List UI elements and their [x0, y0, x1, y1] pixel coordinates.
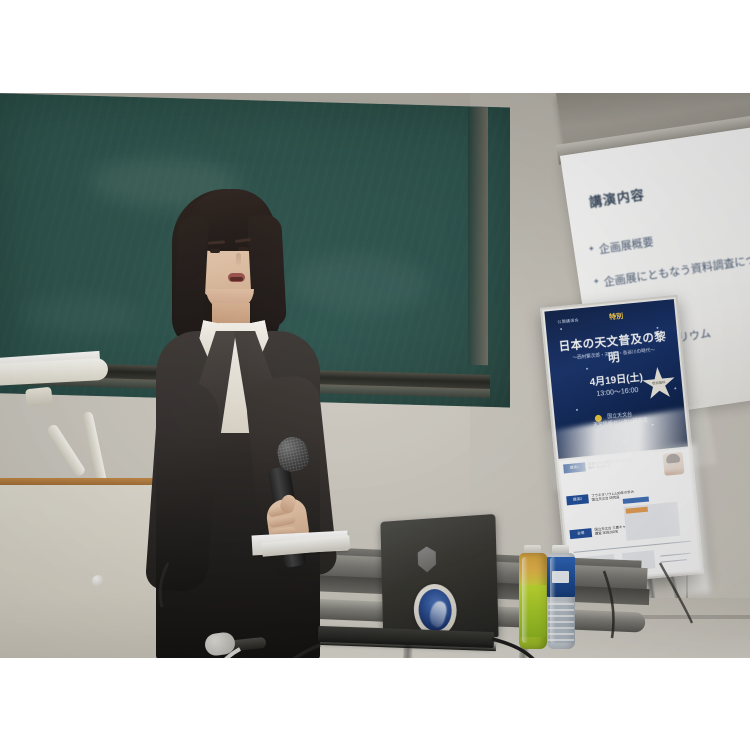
presenter-mouth [228, 273, 245, 282]
document-camera-arm-lower [46, 423, 87, 478]
poster-star [576, 409, 578, 411]
presenter-hair-right [247, 214, 287, 328]
lectern-knob[interactable] [92, 575, 104, 587]
screenshot-root: 講演内容 ✦ 企画展概要 ✦ 企画展にともなう資料調査につ 作所の100年 所と… [0, 0, 750, 750]
poster-star [674, 387, 676, 389]
bullet-marker-icon: ✦ [592, 275, 601, 290]
laptop-sticker [413, 584, 457, 637]
laptop-sticker-swirl [427, 599, 449, 629]
bottle-highlight [550, 557, 556, 643]
laptop-brand-logo-icon [414, 546, 440, 573]
presenter-eye-left [210, 249, 220, 253]
presenter-eye-right [238, 247, 248, 251]
lecture-photograph: 講演内容 ✦ 企画展概要 ✦ 企画展にともなう資料調査につ 作所の100年 所と… [0, 93, 750, 658]
poster-pretitle: 公開講演会 [557, 317, 579, 325]
event-poster: 公開講演会 特別 日本の天文普及の黎明 ～西村繁次郎・天文台・長谷川の時代～ 4… [540, 295, 704, 587]
bullet-marker-icon: ✦ [587, 242, 596, 257]
poster-star [560, 328, 562, 330]
slide-bullet-text: 企画展にともなう資料調査につ [603, 251, 750, 290]
water-bottle[interactable] [544, 545, 578, 649]
chalkboard-right-edge [468, 107, 488, 366]
laptop-sticker-artwork [418, 589, 452, 631]
laptop-lid[interactable]: ​ [380, 514, 498, 637]
poster-section-chip: 講演2 [566, 494, 589, 505]
laptop-brand-wordmark: ​ [404, 573, 464, 584]
presenter-nose [236, 253, 241, 265]
poster-brand-badge: 特別 [609, 311, 624, 322]
poster-star [586, 368, 588, 370]
presenter [150, 181, 365, 658]
bottle-highlight [522, 557, 528, 643]
document-camera-hinge [25, 387, 53, 408]
poster-section-chip: 会場 [569, 528, 592, 539]
poster-accent-bar [623, 496, 649, 503]
presenter-hair-left [173, 216, 209, 335]
